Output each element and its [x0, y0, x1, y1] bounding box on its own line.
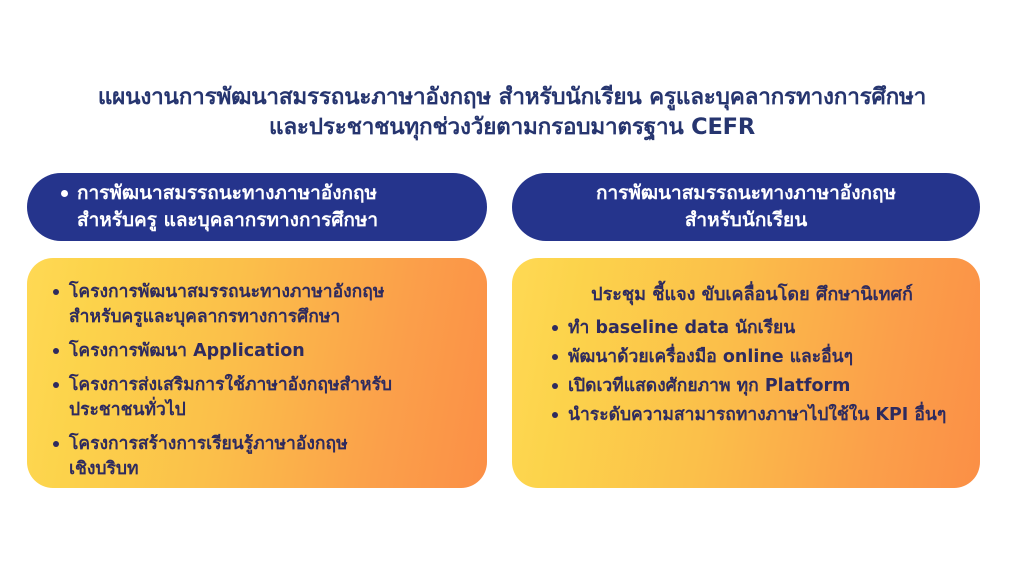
list-item: โครงการพัฒนา Application — [53, 339, 469, 364]
bullet-dot-icon — [552, 325, 558, 331]
column-students: การพัฒนาสมรรถนะทางภาษาอังกฤษ สำหรับนักเร… — [512, 173, 980, 488]
list-item-label: โครงการพัฒนาสมรรถนะทางภาษาอังกฤษ สำหรับค… — [69, 280, 384, 330]
list-item-label: โครงการส่งเสริมการใช้ภาษาอังกฤษสำหรับ ปร… — [69, 373, 392, 423]
column-teachers-header-label: การพัฒนาสมรรถนะทางภาษาอังกฤษ สำหรับครู แ… — [77, 180, 378, 234]
list-item: ทำ baseline data นักเรียน — [552, 316, 964, 341]
column-teachers-header-row: การพัฒนาสมรรถนะทางภาษาอังกฤษ สำหรับครู แ… — [45, 180, 378, 234]
column-students-card: ประชุม ชี้แจง ขับเคลื่อนโดย ศึกษานิเทศก์… — [512, 258, 980, 488]
list-item: เปิดเวทีแสดงศักยภาพ ทุก Platform — [552, 374, 964, 399]
column-students-list: ทำ baseline data นักเรียน พัฒนาด้วยเครื่… — [534, 316, 964, 428]
column-teachers: การพัฒนาสมรรถนะทางภาษาอังกฤษ สำหรับครู แ… — [27, 173, 487, 488]
column-teachers-header: การพัฒนาสมรรถนะทางภาษาอังกฤษ สำหรับครู แ… — [27, 173, 487, 241]
column-students-lead: ประชุม ชี้แจง ขับเคลื่อนโดย ศึกษานิเทศก์ — [540, 282, 964, 308]
bullet-dot-icon — [53, 441, 59, 447]
list-item-label: ทำ baseline data นักเรียน — [568, 316, 795, 341]
page-title: แผนงานการพัฒนาสมรรถนะภาษาอังกฤษ สำหรับนั… — [60, 82, 964, 142]
list-item: โครงการสร้างการเรียนรู้ภาษาอังกฤษ เชิงบร… — [53, 432, 469, 482]
bullet-dot-icon — [552, 412, 558, 418]
bullet-dot-icon — [61, 190, 68, 197]
column-teachers-card: โครงการพัฒนาสมรรถนะทางภาษาอังกฤษ สำหรับค… — [27, 258, 487, 488]
list-item-label: นำระดับความสามารถทางภาษาไปใช้ใน KPI อื่น… — [568, 403, 946, 428]
list-item: พัฒนาด้วยเครื่องมือ online และอื่นๆ — [552, 345, 964, 370]
bullet-dot-icon — [552, 383, 558, 389]
column-teachers-list: โครงการพัฒนาสมรรถนะทางภาษาอังกฤษ สำหรับค… — [53, 280, 469, 482]
list-item-label: พัฒนาด้วยเครื่องมือ online และอื่นๆ — [568, 345, 853, 370]
slide: แผนงานการพัฒนาสมรรถนะภาษาอังกฤษ สำหรับนั… — [0, 0, 1024, 575]
list-item-label: โครงการพัฒนา Application — [69, 339, 305, 364]
list-item: โครงการส่งเสริมการใช้ภาษาอังกฤษสำหรับ ปร… — [53, 373, 469, 423]
bullet-dot-icon — [53, 348, 59, 354]
page-title-line-1: แผนงานการพัฒนาสมรรถนะภาษาอังกฤษ สำหรับนั… — [60, 82, 964, 112]
page-title-line-2: และประชาชนทุกช่วงวัยตามกรอบมาตรฐาน CEFR — [60, 112, 964, 142]
list-item: โครงการพัฒนาสมรรถนะทางภาษาอังกฤษ สำหรับค… — [53, 280, 469, 330]
bullet-dot-icon — [53, 382, 59, 388]
list-item: นำระดับความสามารถทางภาษาไปใช้ใน KPI อื่น… — [552, 403, 964, 428]
list-item-label: เปิดเวทีแสดงศักยภาพ ทุก Platform — [568, 374, 850, 399]
column-students-header-label: การพัฒนาสมรรถนะทางภาษาอังกฤษ สำหรับนักเร… — [596, 180, 896, 234]
list-item-label: โครงการสร้างการเรียนรู้ภาษาอังกฤษ เชิงบร… — [69, 432, 348, 482]
bullet-dot-icon — [53, 289, 59, 295]
column-students-header: การพัฒนาสมรรถนะทางภาษาอังกฤษ สำหรับนักเร… — [512, 173, 980, 241]
bullet-dot-icon — [552, 354, 558, 360]
